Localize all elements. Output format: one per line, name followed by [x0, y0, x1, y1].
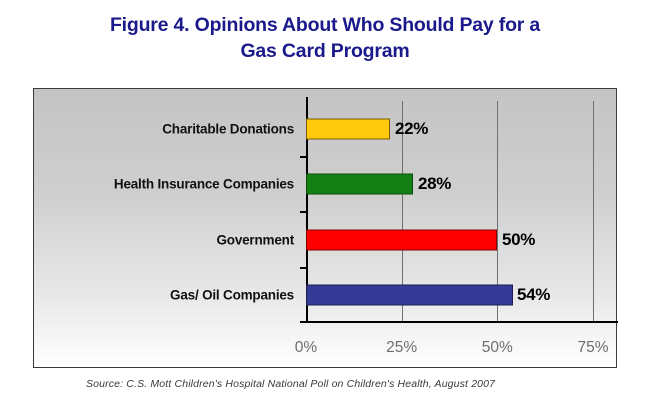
category-axis-labels: Charitable Donations Health Insurance Co… [34, 101, 302, 323]
category-label-health-insurance-companies: Health Insurance Companies [34, 177, 294, 192]
category-slot: Charitable Donations [34, 101, 294, 157]
bar-gas-oil-companies[interactable] [306, 285, 513, 306]
plot-area: 22% 28% 50% 54% 0% 25% 50% 75% [306, 101, 618, 323]
x-tick-label-50: 50% [482, 339, 513, 357]
bar-value-gas-oil-companies: 54% [517, 285, 550, 305]
bar-health-insurance-companies[interactable] [306, 174, 413, 195]
category-slot: Government [34, 212, 294, 268]
bar-value-government: 50% [502, 230, 535, 250]
category-label-charitable-donations: Charitable Donations [34, 121, 294, 136]
category-slot: Gas/ Oil Companies [34, 268, 294, 324]
bar-value-charitable-donations: 22% [395, 119, 428, 139]
category-label-government: Government [34, 232, 294, 247]
category-slot: Health Insurance Companies [34, 157, 294, 213]
bar-row: 28% [306, 157, 618, 213]
bar-row: 50% [306, 212, 618, 268]
bar-charitable-donations[interactable] [306, 118, 390, 139]
x-tick-label-25: 25% [386, 339, 417, 357]
category-label-gas-oil-companies: Gas/ Oil Companies [34, 288, 294, 303]
page-title: Figure 4. Opinions About Who Should Pay … [25, 12, 625, 64]
x-tick-label-75: 75% [577, 339, 608, 357]
x-tick-label-0: 0% [295, 339, 317, 357]
title-line-1: Figure 4. Opinions About Who Should Pay … [25, 12, 625, 38]
bar-row: 22% [306, 101, 618, 157]
title-line-2: Gas Card Program [25, 38, 625, 64]
bar-value-health-insurance-companies: 28% [418, 174, 451, 194]
chart-frame: Charitable Donations Health Insurance Co… [33, 88, 617, 368]
bar-government[interactable] [306, 229, 497, 250]
source-note: Source: C.S. Mott Children's Hospital Na… [86, 378, 495, 390]
bar-row: 54% [306, 268, 618, 324]
